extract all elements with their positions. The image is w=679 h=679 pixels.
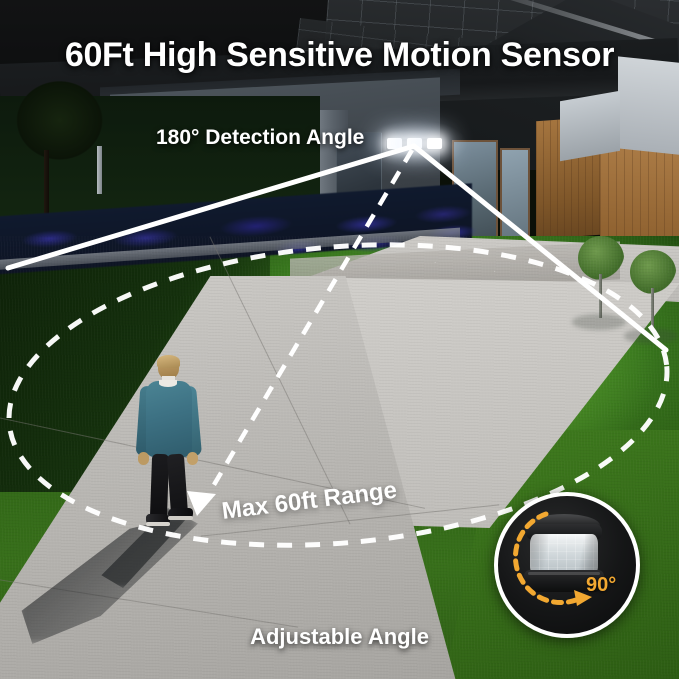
adjustable-angle-caption: Adjustable Angle (0, 624, 679, 650)
tree-shadow (572, 314, 626, 330)
led-security-light-fixture (386, 136, 444, 152)
led-panel (387, 138, 402, 149)
tree-small-far-right (630, 250, 676, 294)
house-wall-right-lower (560, 91, 620, 162)
product-feature-image: 90° 60Ft High Sensitive Motion Sensor 18… (0, 0, 679, 679)
tree-small-right (578, 236, 624, 280)
tree-shadow (624, 328, 678, 344)
detection-angle-label: 180° Detection Angle (156, 126, 364, 150)
rotation-arc-graphic (498, 496, 636, 634)
headline: 60Ft High Sensitive Motion Sensor (0, 36, 679, 75)
led-panel (427, 138, 442, 149)
adjustable-angle-inset: 90° (494, 492, 640, 638)
inset-degrees-label: 90° (586, 574, 616, 597)
led-panel (407, 138, 422, 149)
rotation-arc (515, 514, 576, 603)
walking-person (132, 356, 204, 528)
garden-post (97, 146, 102, 194)
